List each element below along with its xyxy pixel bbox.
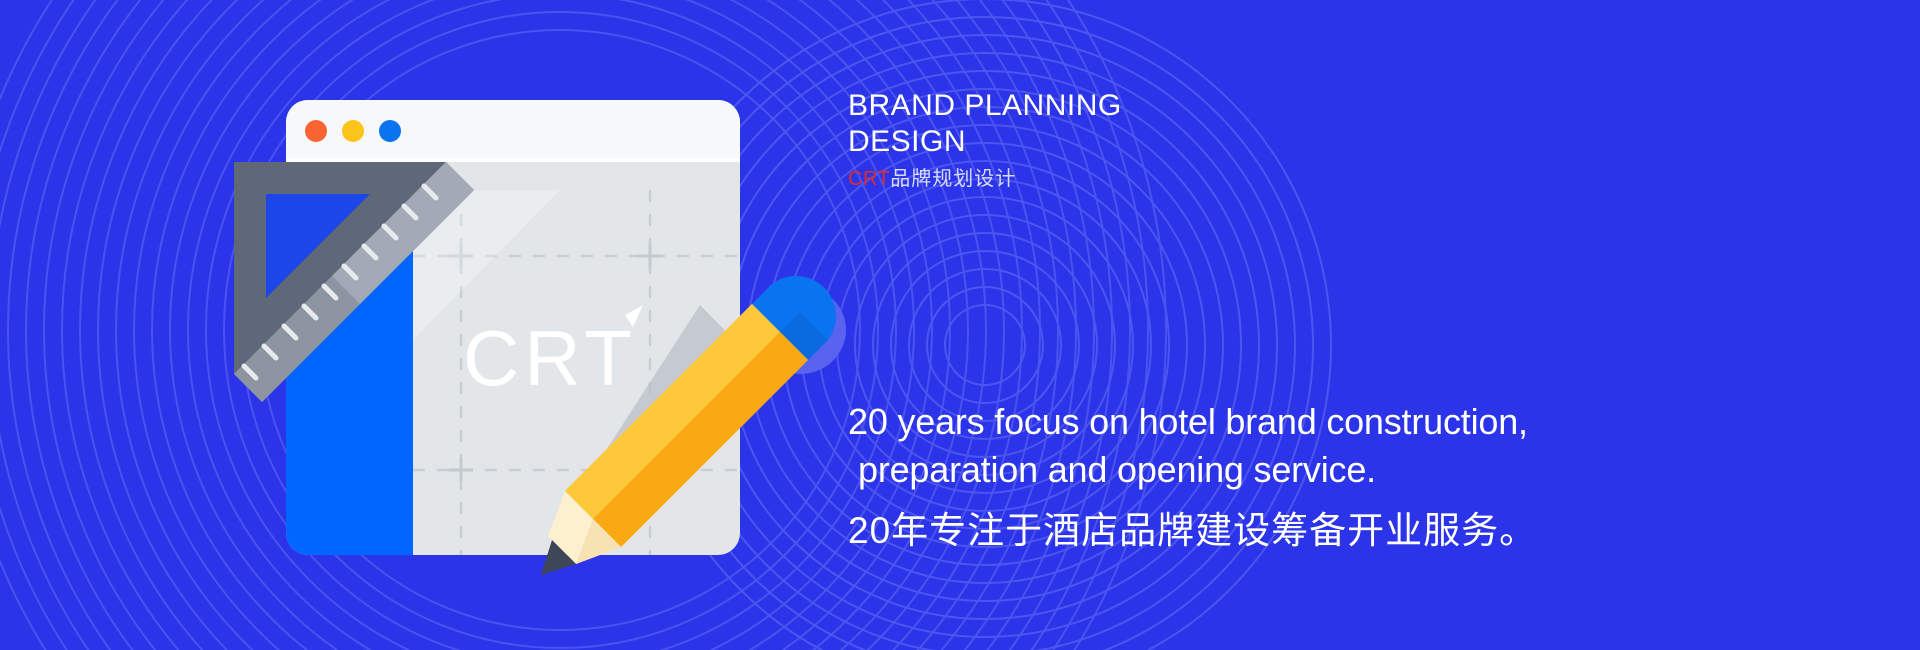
- crt-watermark-text: CRT: [463, 314, 637, 402]
- tagline-chinese: 20年专注于酒店品牌建设筹备开业服务。: [848, 508, 1708, 554]
- brand-design-illustration: CRT: [0, 0, 900, 650]
- eyebrow-chinese-text: 品牌规划设计: [890, 168, 1016, 190]
- eyebrow-brand-crt: CRT: [848, 168, 890, 190]
- tagline-english-line-1: 20 years focus on hotel brand constructi…: [848, 401, 1528, 442]
- eyebrow-line-2: DESIGN: [848, 124, 1268, 160]
- tagline-english: 20 years focus on hotel brand constructi…: [848, 398, 1708, 494]
- tagline-block: 20 years focus on hotel brand constructi…: [848, 398, 1708, 554]
- minimize-dot: [342, 120, 364, 142]
- eyebrow-block: BRAND PLANNING DESIGN CRT品牌规划设计: [848, 88, 1268, 191]
- maximize-dot: [379, 120, 401, 142]
- hero-banner: CRT: [0, 0, 1920, 650]
- tagline-english-line-2: preparation and opening service.: [848, 446, 1708, 494]
- close-dot: [305, 120, 327, 142]
- crt-watermark: CRT: [463, 305, 643, 402]
- eyebrow-line-1: BRAND PLANNING: [848, 88, 1268, 124]
- eyebrow-chinese: CRT品牌规划设计: [848, 167, 1268, 191]
- text-column: BRAND PLANNING DESIGN CRT品牌规划设计 20 years…: [848, 0, 1848, 650]
